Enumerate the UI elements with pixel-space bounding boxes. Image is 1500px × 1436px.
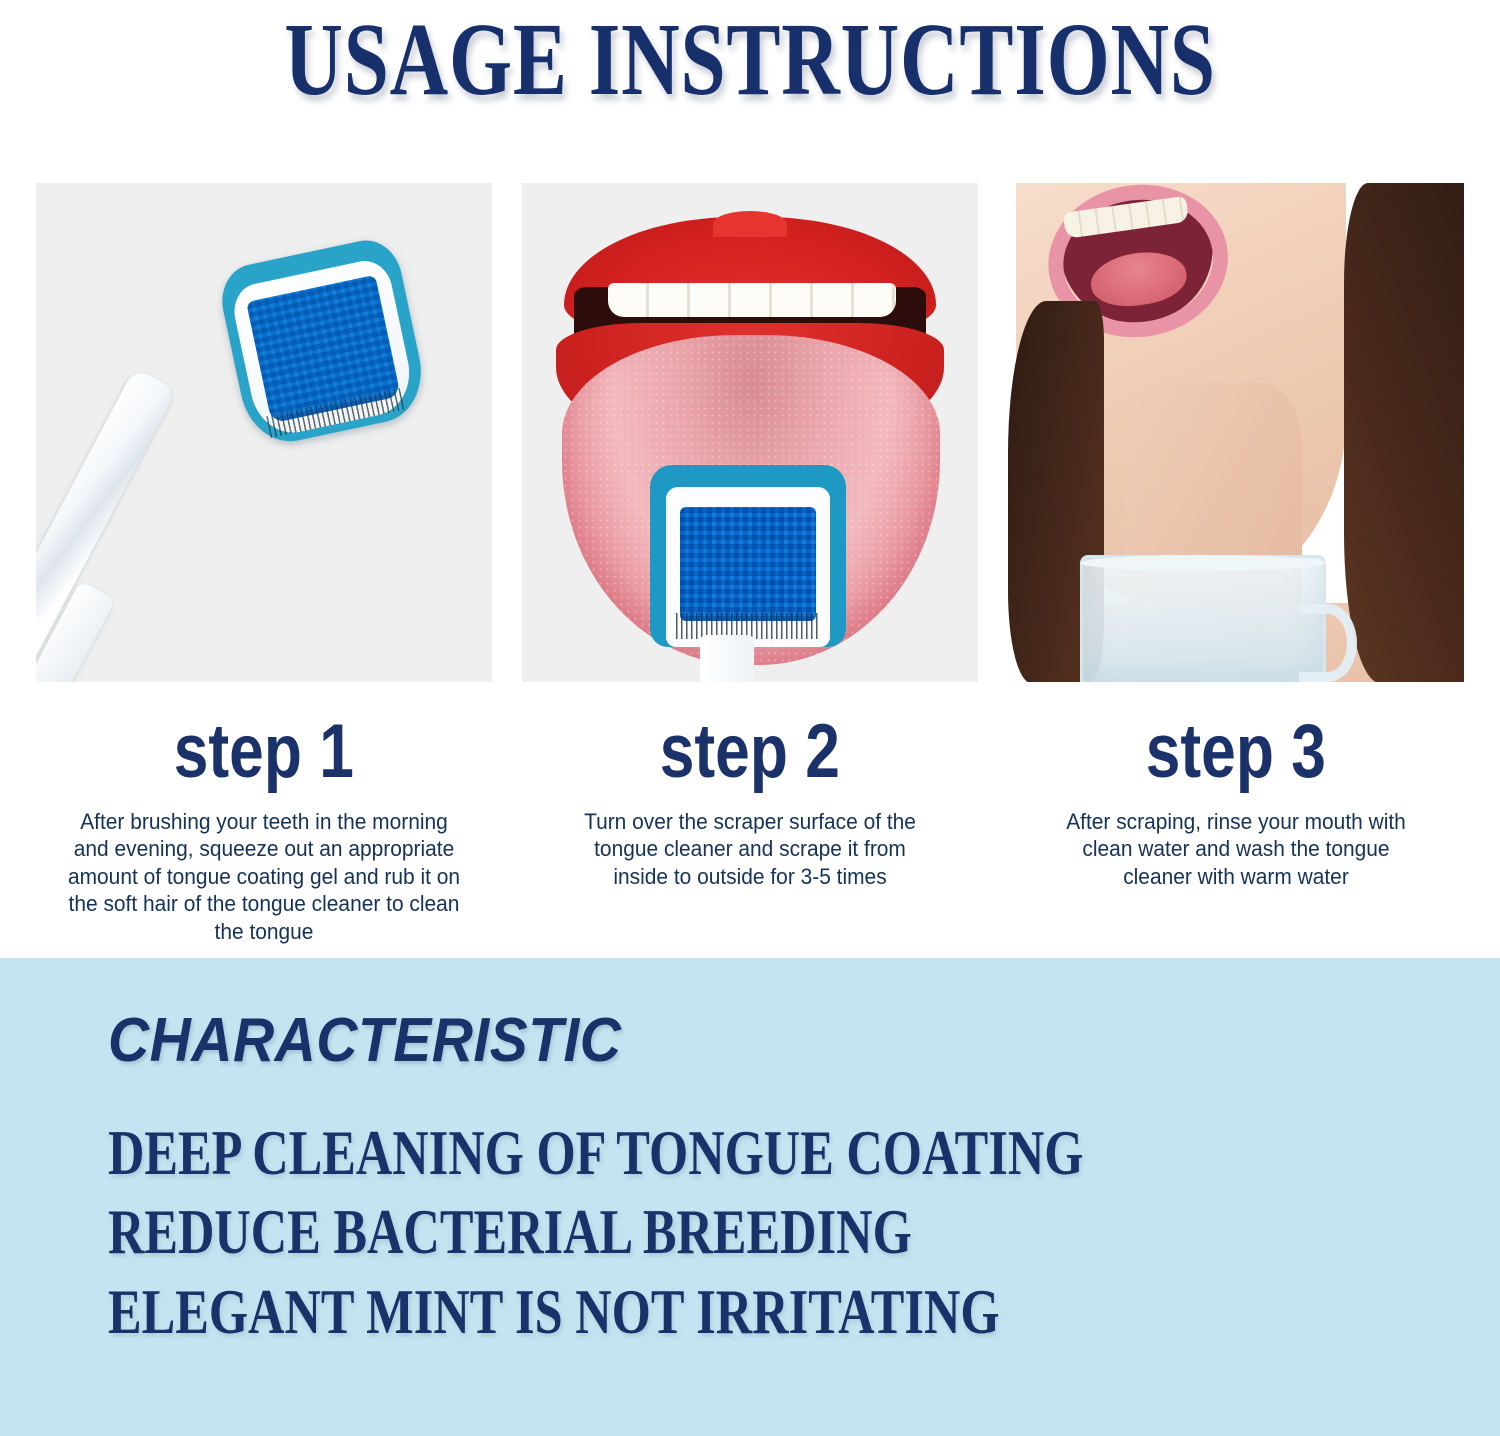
scraper-silicone-pad <box>680 507 816 621</box>
woman-hair-right <box>1344 183 1464 682</box>
feature-line: DEEP CLEANING OF TONGUE COATING <box>108 1114 1222 1193</box>
step-3-description: After scraping, rinse your mouth with cl… <box>1050 808 1422 890</box>
cleaner-head <box>215 234 431 450</box>
step-3-label: step 3 <box>1146 714 1326 790</box>
steps-section: step 1 After brushing your teeth in the … <box>0 120 1500 945</box>
woman-rinsing-image <box>1008 183 1464 682</box>
step-card-2: step 2 Turn over the scraper surface of … <box>522 183 978 890</box>
scraper-handle <box>700 635 754 682</box>
step-1-description: After brushing your teeth in the morning… <box>64 808 464 945</box>
step-1-label: step 1 <box>174 714 354 790</box>
characteristic-feature-list: DEEP CLEANING OF TONGUE COATING REDUCE B… <box>108 1114 1500 1352</box>
characteristic-title: CHARACTERISTIC <box>108 1010 1389 1072</box>
tongue-cleaner-product-image <box>36 183 492 682</box>
header-banner: USAGE INSTRUCTIONS <box>0 0 1500 120</box>
scraper-head <box>650 465 846 647</box>
step-2-label: step 2 <box>660 714 840 790</box>
step-3-photo <box>1008 183 1464 682</box>
characteristic-section: CHARACTERISTIC DEEP CLEANING OF TONGUE C… <box>0 958 1500 1436</box>
step-2-description: Turn over the scraper surface of the ton… <box>564 808 936 890</box>
page-title: USAGE INSTRUCTIONS <box>284 8 1215 112</box>
step-card-1: step 1 After brushing your teeth in the … <box>36 183 492 945</box>
step-1-photo <box>36 183 492 682</box>
feature-line: ELEGANT MINT IS NOT IRRITATING <box>108 1273 1222 1352</box>
upper-teeth <box>608 283 896 317</box>
water-glass <box>1080 555 1326 682</box>
feature-line: REDUCE BACTERIAL BREEDING <box>108 1193 1222 1272</box>
glass-handle <box>1299 604 1357 682</box>
step-2-photo <box>522 183 978 682</box>
tongue-cleaner-on-tongue-image <box>522 183 978 682</box>
step-card-3: step 3 After scraping, rinse your mouth … <box>1008 183 1464 890</box>
